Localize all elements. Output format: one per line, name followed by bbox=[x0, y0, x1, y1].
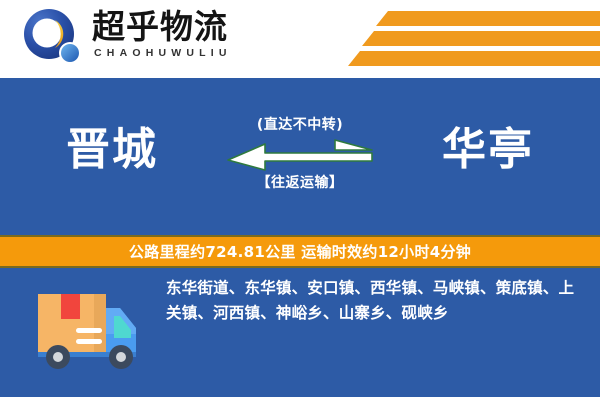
bidirectional-arrow-icon bbox=[225, 138, 375, 172]
circle-crescent-logo-icon bbox=[22, 8, 84, 68]
origin-city: 晋城 bbox=[22, 124, 202, 176]
brand-title: 超乎物流 bbox=[92, 8, 292, 46]
logistics-route-banner: 超乎物流 CHAOHUWULIU 晋城 (直达不中转) 【往返运输】 华亭 bbox=[0, 0, 600, 400]
brand-text: 超乎物流 CHAOHUWULIU bbox=[92, 8, 292, 68]
delivery-truck-icon bbox=[28, 278, 146, 372]
direct-shipping-label: (直达不中转) bbox=[225, 116, 375, 135]
distance-duration-text: 公路里程约724.81公里 运输时效约12小时4分钟 bbox=[129, 241, 471, 262]
route-panel: 晋城 (直达不中转) 【往返运输】 华亭 bbox=[0, 76, 600, 235]
route-middle: (直达不中转) 【往返运输】 bbox=[225, 116, 375, 208]
roundtrip-label: 【往返运输】 bbox=[225, 174, 375, 193]
distance-duration-bar: 公路里程约724.81公里 运输时效约12小时4分钟 bbox=[0, 235, 600, 268]
destination-city: 华亭 bbox=[398, 124, 578, 176]
header: 超乎物流 CHAOHUWULIU bbox=[0, 0, 600, 76]
orange-speed-stripes-icon bbox=[300, 0, 600, 76]
coverage-panel: 东华街道、东华镇、安口镇、西华镇、马峡镇、策底镇、上关镇、河西镇、神峪乡、山寨乡… bbox=[0, 268, 600, 400]
brand-subtitle: CHAOHUWULIU bbox=[92, 46, 292, 60]
coverage-area-text: 东华街道、东华镇、安口镇、西华镇、马峡镇、策底镇、上关镇、河西镇、神峪乡、山寨乡… bbox=[166, 276, 580, 326]
